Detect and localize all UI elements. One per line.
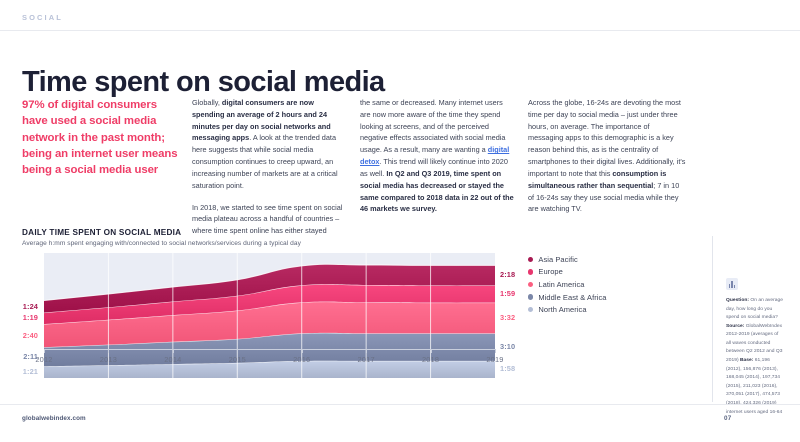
x-tick — [173, 349, 174, 353]
base-text: 61,196 (2012), 156,876 (2013), 168,045 (… — [726, 358, 782, 414]
chart-legend: Asia PacificEuropeLatin AmericaMiddle Ea… — [528, 253, 678, 316]
paragraph: the same or decreased. Many internet use… — [360, 97, 515, 215]
x-tick-label: 2013 — [100, 355, 117, 364]
top-divider — [0, 30, 800, 31]
legend-swatch-icon — [528, 282, 533, 287]
body-column-2: the same or decreased. Many internet use… — [360, 97, 515, 225]
page-title: Time spent on social media — [22, 67, 385, 97]
text-run: the same or decreased. Many internet use… — [360, 98, 505, 154]
footer-url[interactable]: globalwebindex.com — [22, 415, 86, 422]
legend-swatch-icon — [528, 307, 533, 312]
source-note: Question: On an average day, how long do… — [726, 297, 784, 417]
section-kicker: SOCIAL — [22, 13, 63, 22]
text-run: Globally, — [192, 98, 222, 107]
x-axis-line — [44, 349, 495, 350]
legend-item[interactable]: Asia Pacific — [528, 253, 678, 266]
paragraph: Globally, digital consumers are now spen… — [192, 97, 347, 192]
left-value-labels: 1:241:192:402:111:21 — [0, 253, 38, 378]
legend-swatch-icon — [528, 257, 533, 262]
x-tick — [366, 349, 367, 353]
value-label-end: 2:18 — [500, 270, 515, 279]
value-label-start: 1:24 — [23, 302, 38, 311]
legend-label: North America — [538, 305, 586, 314]
x-tick-label: 2017 — [358, 355, 375, 364]
paragraph: Across the globe, 16-24s are devoting th… — [528, 97, 686, 215]
legend-label: Latin America — [538, 280, 584, 289]
value-label-start: 1:19 — [23, 313, 38, 322]
legend-label: Middle East & Africa — [538, 293, 606, 302]
x-tick — [495, 349, 496, 353]
value-label-end: 1:59 — [500, 289, 515, 298]
text-run: Across the globe, 16-24s are devoting th… — [528, 98, 685, 178]
x-tick-label: 2014 — [164, 355, 181, 364]
legend-item[interactable]: North America — [528, 303, 678, 316]
body-column-3: Across the globe, 16-24s are devoting th… — [528, 97, 686, 225]
lead-statement: 97% of digital consumers have used a soc… — [22, 97, 182, 178]
base-label: Base: — [740, 358, 753, 363]
question-label: Question: — [726, 298, 749, 303]
legend-label: Asia Pacific — [538, 255, 577, 264]
legend-item[interactable]: Latin America — [528, 278, 678, 291]
source-label: Source: — [726, 324, 744, 329]
x-tick-label: 2015 — [229, 355, 246, 364]
report-page: SOCIAL Time spent on social media 97% of… — [0, 0, 800, 442]
value-label-end: 3:32 — [500, 313, 515, 322]
footer-divider — [0, 404, 800, 405]
legend-swatch-icon — [528, 294, 533, 299]
legend-item[interactable]: Middle East & Africa — [528, 291, 678, 304]
chart-subtitle: Average h:mm spent engaging with/connect… — [22, 240, 301, 247]
chart-title: DAILY TIME SPENT ON SOCIAL MEDIA — [22, 228, 181, 237]
x-tick — [431, 349, 432, 353]
x-axis: 20122013201420152016201720182019 — [44, 349, 495, 369]
x-tick-label: 2019 — [486, 355, 503, 364]
legend-swatch-icon — [528, 269, 533, 274]
x-tick — [44, 349, 45, 353]
legend-item[interactable]: Europe — [528, 266, 678, 279]
value-label-end: 1:58 — [500, 364, 515, 373]
x-tick-label: 2012 — [35, 355, 52, 364]
page-number: 07 — [724, 415, 732, 422]
x-tick — [302, 349, 303, 353]
bar-chart-icon — [726, 278, 738, 290]
x-tick-label: 2016 — [293, 355, 310, 364]
value-label-end: 3:10 — [500, 342, 515, 351]
x-tick — [237, 349, 238, 353]
x-tick-label: 2018 — [422, 355, 439, 364]
x-tick — [108, 349, 109, 353]
source-divider — [712, 236, 713, 402]
value-label-start: 2:40 — [23, 331, 38, 340]
legend-label: Europe — [538, 267, 563, 276]
chart-block: DAILY TIME SPENT ON SOCIAL MEDIA Average… — [0, 224, 800, 404]
value-label-start: 1:21 — [23, 367, 38, 376]
